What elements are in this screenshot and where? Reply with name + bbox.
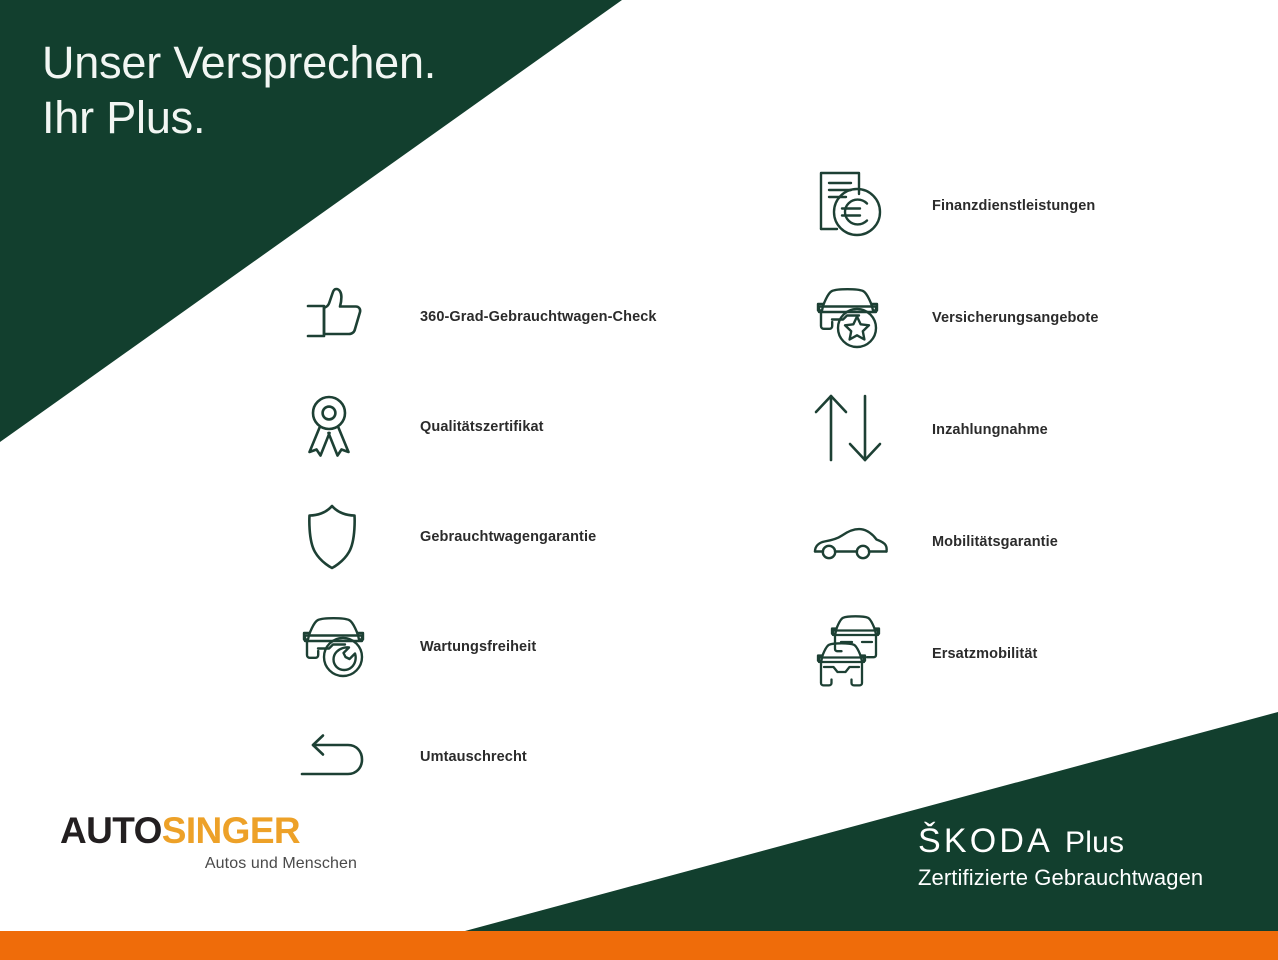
dealer-wordmark-primary: AUTO (60, 810, 162, 851)
page-title: Unser Versprechen. Ihr Plus. (42, 36, 582, 146)
award-rosette-icon (296, 385, 380, 469)
benefit-label: Umtauschrecht (420, 749, 527, 765)
dealer-wordmark: AUTOSINGER (60, 812, 360, 849)
benefit-label: Versicherungsangebote (932, 310, 1099, 326)
skoda-plus-word: Plus (1065, 828, 1124, 858)
benefit-item: Inzahlungnahme (810, 374, 1230, 486)
thumbs-up-icon (296, 275, 380, 359)
bottom-orange-bar (0, 931, 1278, 960)
benefit-label: Gebrauchtwagengarantie (420, 529, 596, 545)
benefit-item: Qualitätszertifikat (296, 372, 766, 482)
dealer-tagline: Autos und Menschen (60, 855, 360, 873)
benefit-item: Mobilitätsgarantie (810, 486, 1230, 598)
benefits-column-left: 360-Grad-Gebrauchtwagen-Check Qualitätsz… (296, 262, 766, 812)
benefit-item: Ersatzmobilität (810, 598, 1230, 710)
benefit-label: Qualitätszertifikat (420, 419, 544, 435)
benefits-column-right: Finanzdienstleistungen Versicherungsange… (810, 150, 1230, 710)
benefit-label: Wartungsfreiheit (420, 639, 536, 655)
skoda-lockup-subtitle: Zertifizierte Gebrauchtwagen (918, 866, 1203, 890)
car-wrench-icon (296, 605, 380, 689)
document-euro-icon (810, 164, 894, 248)
dealer-wordmark-accent: SINGER (162, 810, 300, 851)
car-star-icon (810, 276, 894, 360)
benefit-label: 360-Grad-Gebrauchtwagen-Check (420, 309, 657, 325)
shield-icon (296, 495, 380, 579)
dealer-logo: AUTOSINGER Autos und Menschen (60, 812, 360, 873)
benefit-label: Finanzdienstleistungen (932, 198, 1095, 214)
skoda-brand-wordmark: ŠKODA (918, 824, 1053, 858)
benefit-label: Ersatzmobilität (932, 646, 1037, 662)
benefit-label: Inzahlungnahme (932, 422, 1048, 438)
benefit-item: Umtauschrecht (296, 702, 766, 812)
skoda-lockup-top-row: ŠKODA Plus (918, 824, 1203, 858)
benefit-item: Versicherungsangebote (810, 262, 1230, 374)
benefit-item: Finanzdienstleistungen (810, 150, 1230, 262)
car-side-icon (810, 500, 894, 584)
benefit-item: 360-Grad-Gebrauchtwagen-Check (296, 262, 766, 372)
promo-banner: Unser Versprechen. Ihr Plus. 360-Grad-Ge… (0, 0, 1278, 960)
benefit-item: Gebrauchtwagengarantie (296, 482, 766, 592)
u-turn-arrow-icon (296, 715, 380, 799)
benefit-label: Mobilitätsgarantie (932, 534, 1058, 550)
benefit-item: Wartungsfreiheit (296, 592, 766, 702)
two-cars-icon (810, 612, 894, 696)
skoda-plus-lockup: ŠKODA Plus Zertifizierte Gebrauchtwagen (918, 824, 1203, 890)
up-down-arrows-icon (810, 388, 894, 472)
